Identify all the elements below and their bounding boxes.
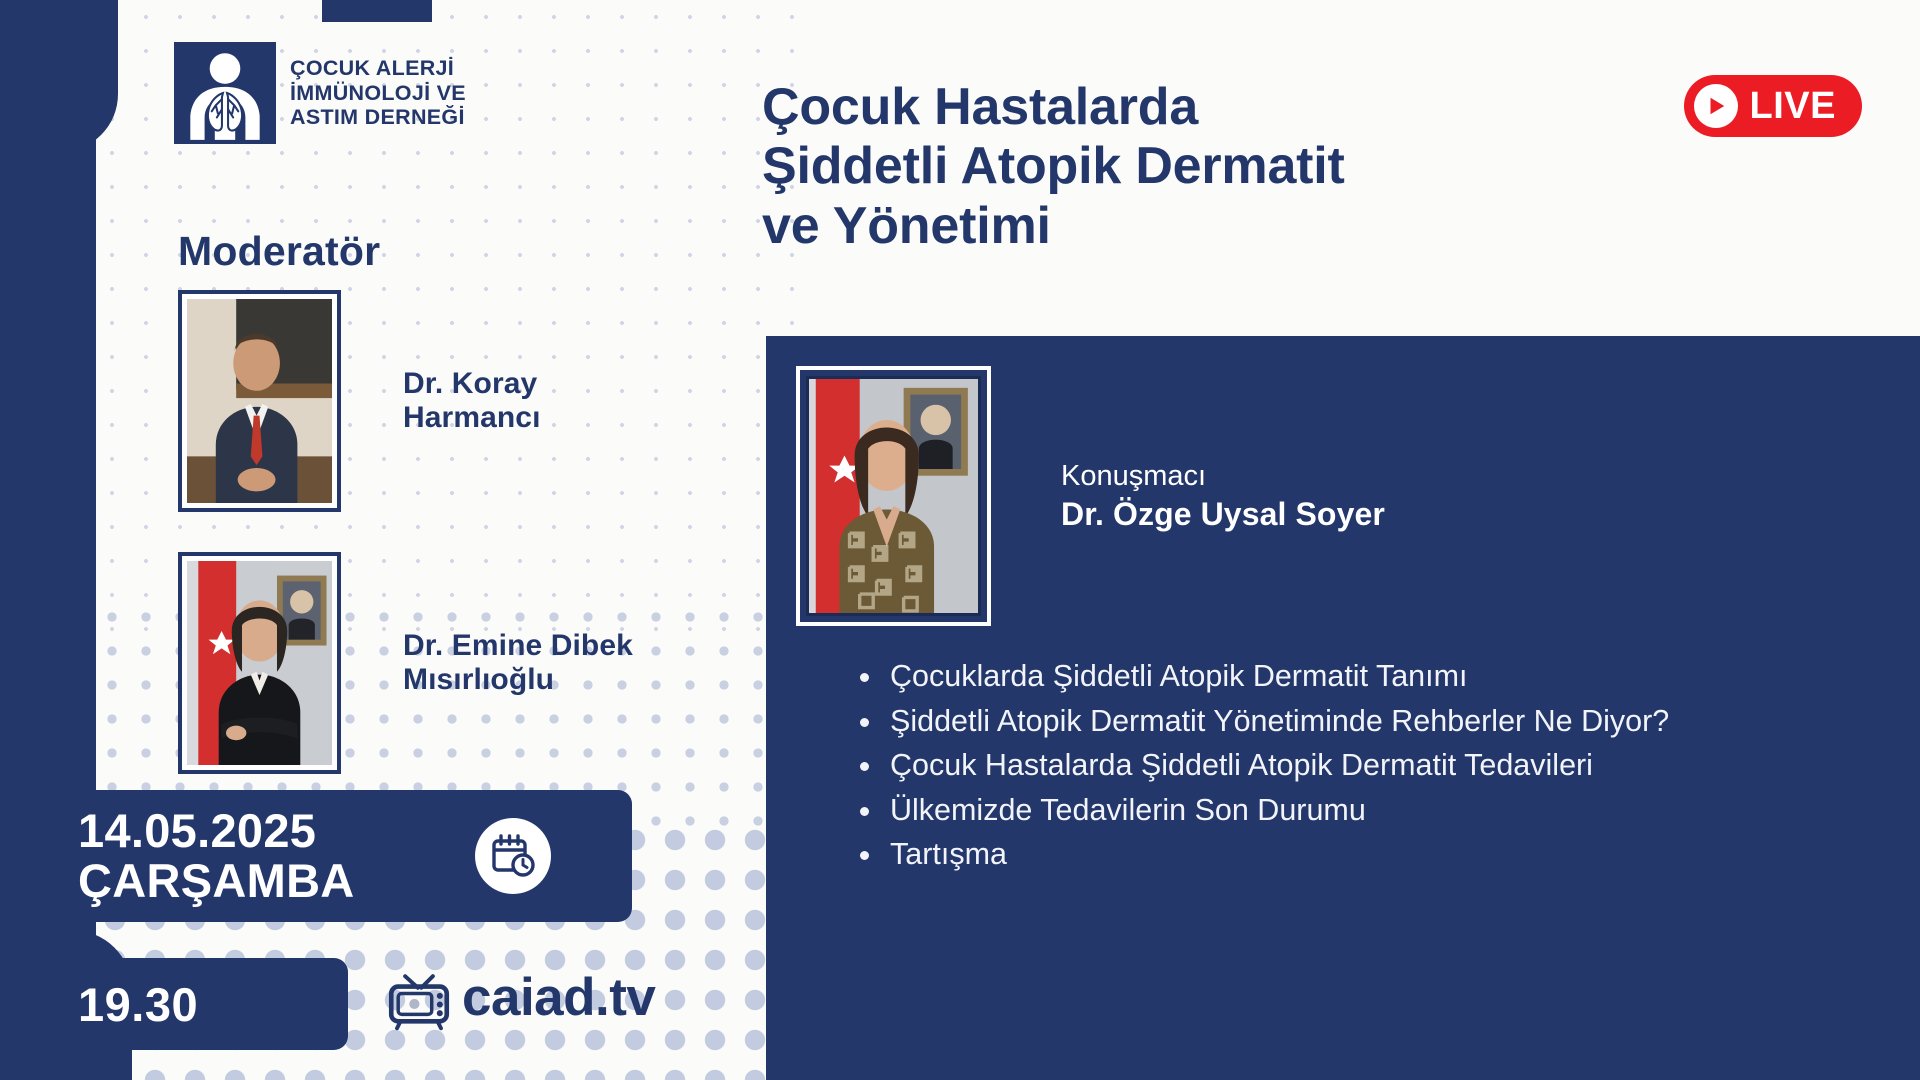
list-item: Tartışma	[854, 834, 1874, 875]
organization-logo: ÇOCUK ALERJİ İMMÜNOLOJİ VE ASTIM DERNEĞİ	[174, 42, 466, 144]
top-tab-shape	[322, 0, 432, 22]
broadcast-channel[interactable]: caiad.tv	[382, 960, 655, 1034]
avatar	[187, 299, 332, 503]
moderator-section-title: Moderatör	[178, 228, 380, 275]
topics-list: Çocuklarda Şiddetli Atopik Dermatit Tanı…	[854, 656, 1874, 879]
event-time: 19.30	[78, 977, 198, 1032]
event-time-block: 19.30	[0, 958, 348, 1050]
moderator-photo-frame	[178, 552, 341, 774]
list-item: Çocuklarda Şiddetli Atopik Dermatit Tanı…	[854, 656, 1874, 697]
event-date-block: 14.05.2025 ÇARŞAMBA	[0, 790, 632, 922]
speaker-photo-frame	[796, 366, 991, 626]
webinar-poster: ÇOCUK ALERJİ İMMÜNOLOJİ VE ASTIM DERNEĞİ…	[0, 0, 1920, 1080]
top-left-corner-shape	[0, 0, 118, 152]
event-date: 14.05.2025 ÇARŞAMBA	[78, 806, 355, 906]
avatar	[806, 376, 981, 616]
avatar	[187, 561, 332, 765]
play-icon	[1694, 84, 1738, 128]
organization-name: ÇOCUK ALERJİ İMMÜNOLOJİ VE ASTIM DERNEĞİ	[290, 56, 466, 130]
speaker-role-label: Konuşmacı	[1061, 458, 1385, 494]
list-item: Çocuk Hastalarda Şiddetli Atopik Dermati…	[854, 745, 1874, 786]
moderator-photo-frame	[178, 290, 341, 512]
page-title: Çocuk Hastalarda Şiddetli Atopik Dermati…	[762, 78, 1642, 256]
live-badge[interactable]: LIVE	[1684, 75, 1862, 137]
moderator-item: Dr. Emine Dibek Mısırlıoğlu	[178, 552, 633, 774]
calendar-clock-icon	[475, 818, 551, 894]
moderator-name: Dr. Koray Harmancı	[403, 367, 541, 434]
speaker-panel: Konuşmacı Dr. Özge Uysal Soyer Çocuklard…	[766, 336, 1920, 1080]
list-item: Ülkemizde Tedavilerin Son Durumu	[854, 790, 1874, 831]
live-label: LIVE	[1750, 85, 1836, 128]
moderator-name: Dr. Emine Dibek Mısırlıoğlu	[403, 629, 633, 696]
speaker-block: Konuşmacı Dr. Özge Uysal Soyer	[796, 366, 1385, 626]
broadcast-site: caiad.tv	[462, 967, 655, 1028]
person-lungs-icon	[174, 42, 276, 144]
speaker-meta: Konuşmacı Dr. Özge Uysal Soyer	[1061, 458, 1385, 534]
speaker-name: Dr. Özge Uysal Soyer	[1061, 494, 1385, 534]
list-item: Şiddetli Atopik Dermatit Yönetiminde Reh…	[854, 701, 1874, 742]
tv-icon	[382, 960, 456, 1034]
moderator-item: Dr. Koray Harmancı	[178, 290, 541, 512]
